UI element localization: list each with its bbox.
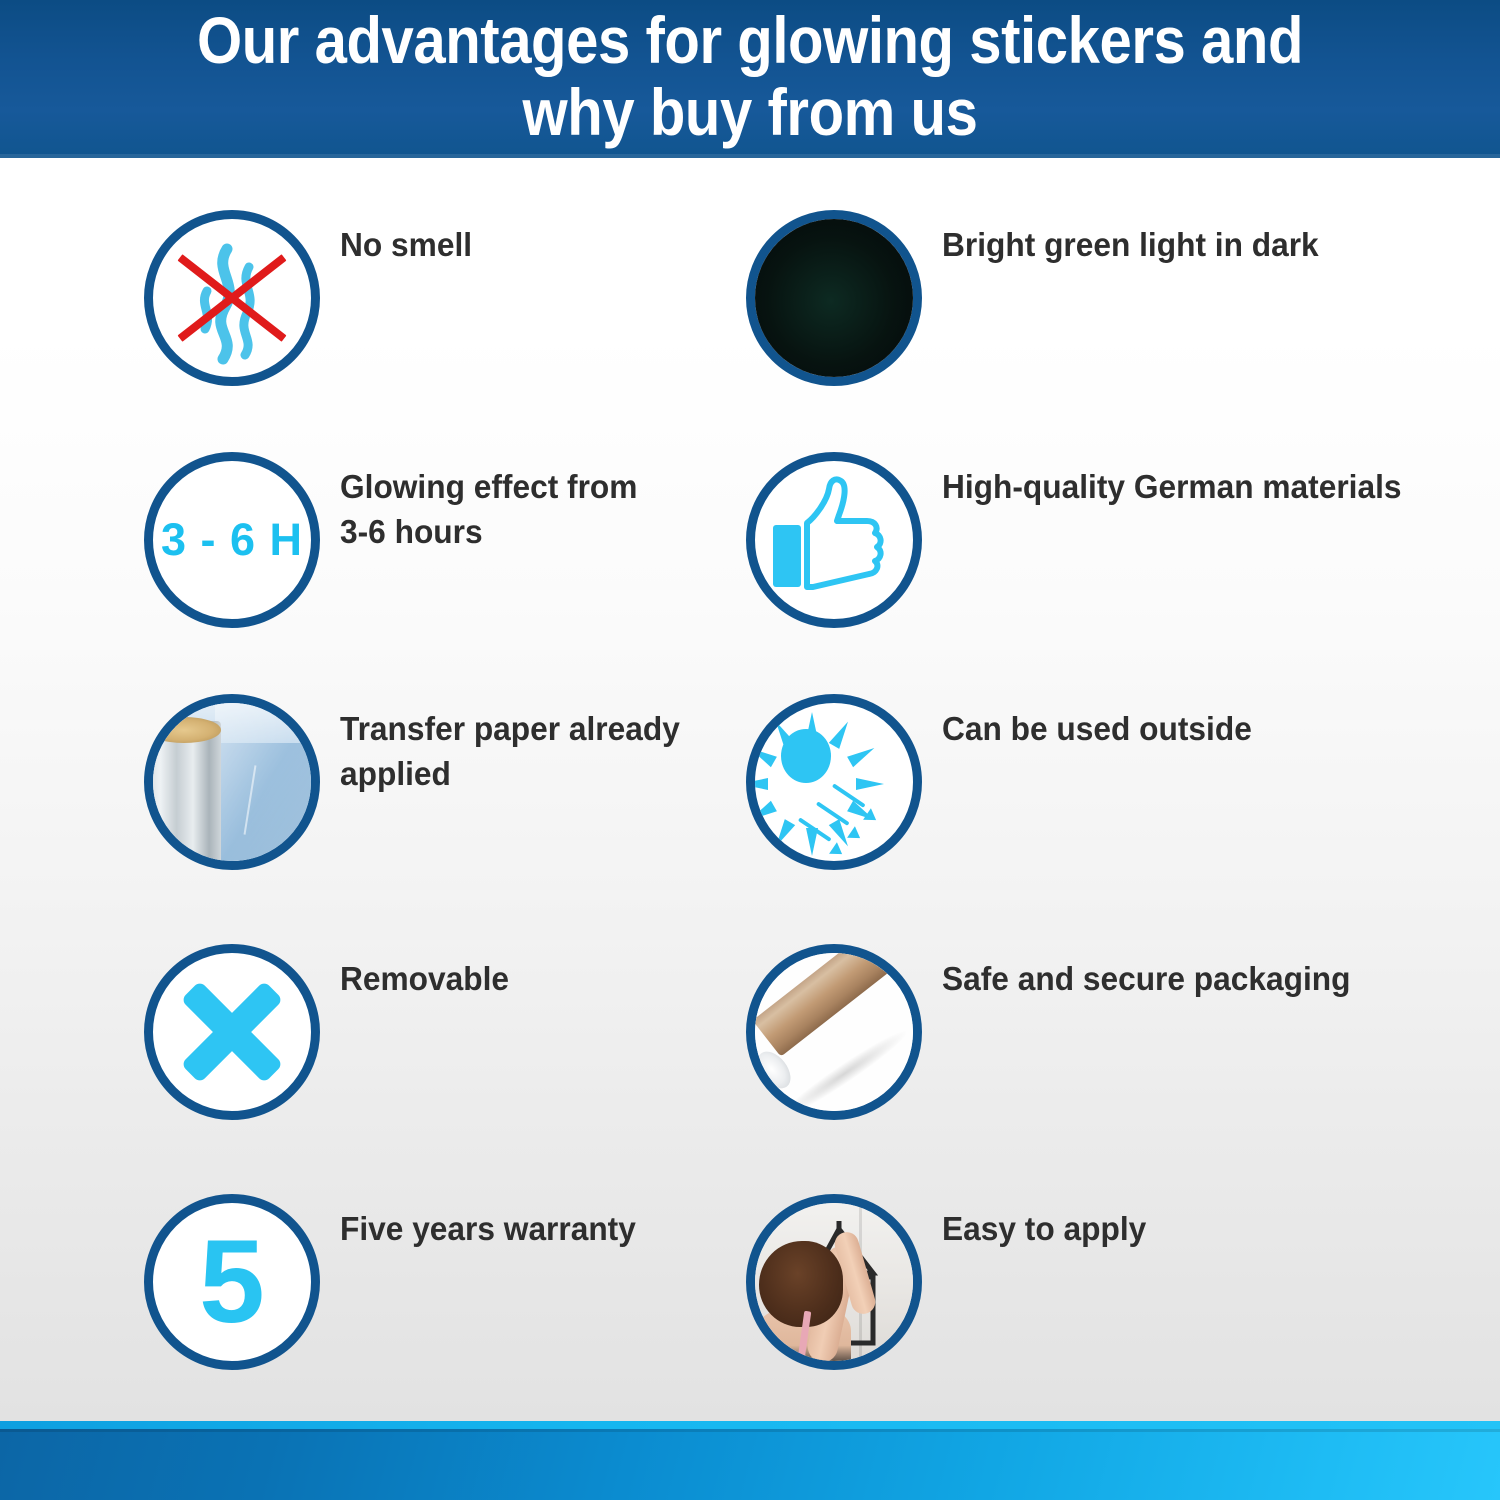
sun-ray [747, 743, 777, 767]
warranty-number-icon: 5 [144, 1194, 320, 1370]
sun-rays-icon [746, 694, 922, 870]
sun-ray [746, 778, 768, 790]
feature-removable: Removable [140, 944, 840, 1186]
feature-label: Can be used outside [942, 706, 1412, 751]
sun-ray [771, 819, 795, 849]
transparent-film-sheet [215, 703, 320, 870]
feature-label: Bright green light in dark [942, 222, 1412, 267]
thumbs-up-icon [746, 452, 922, 628]
tube-photo-background [755, 953, 913, 1111]
footer-bar [0, 1429, 1500, 1500]
page-title: Our advantages for glowing stickers and … [90, 4, 1410, 148]
sun-ray [747, 801, 777, 825]
feature-safe-packaging: Safe and secure packaging [742, 944, 1442, 1186]
feature-label: Removable [340, 956, 810, 1001]
feature-label: No smell [340, 222, 810, 267]
header-banner: Our advantages for glowing stickers and … [0, 0, 1500, 158]
feature-label: Safe and secure packaging [942, 956, 1412, 1001]
feature-easy-to-apply: Easy to apply [742, 1194, 1442, 1436]
feature-glowing-duration: 3 - 6 H Glowing effect from 3-6 hours [140, 452, 840, 694]
woman-hair [759, 1241, 843, 1327]
feature-warranty: 5 Five years warranty [140, 1194, 840, 1436]
sun-disc [781, 729, 831, 783]
feature-label: Glowing effect from 3-6 hours [340, 464, 810, 554]
warranty-number-label: 5 [153, 1203, 311, 1361]
feature-bright-green-light: Bright green light in dark [742, 210, 1442, 452]
infographic-page: Our advantages for glowing stickers and … [0, 0, 1500, 1500]
film-photo-background [153, 703, 311, 861]
features-grid: No smell [0, 158, 1500, 1421]
transfer-film-roll-icon [144, 694, 320, 870]
sun-ray [829, 719, 853, 749]
feature-label: Transfer paper already applied [340, 706, 810, 796]
no-smell-icon [144, 210, 320, 386]
thumbs-up-shape [755, 461, 913, 619]
feature-no-smell: No smell [140, 210, 840, 452]
sun-ray [856, 778, 884, 790]
tube-end-cap [751, 1045, 797, 1094]
woman-applying-sticker-icon [746, 1194, 922, 1370]
footer-accent-stripe [0, 1421, 1500, 1429]
feature-label: Five years warranty [340, 1206, 810, 1251]
film-roll-cardboard-core [147, 717, 221, 743]
mailing-tube-icon [746, 944, 922, 1120]
dark-background [755, 219, 913, 377]
hours-badge-icon: 3 - 6 H [144, 452, 320, 628]
feature-label: High-quality German materials [942, 464, 1412, 509]
feature-label: Easy to apply [942, 1206, 1412, 1251]
film-roll-body [147, 721, 221, 870]
glowing-handprint-icon [746, 210, 922, 386]
apply-photo-background [755, 1203, 913, 1361]
feature-transfer-paper: Transfer paper already applied [140, 694, 840, 936]
hours-badge-label: 3 - 6 H [153, 461, 311, 619]
feature-german-materials: High-quality German materials [742, 452, 1442, 694]
cross-mark-icon [144, 944, 320, 1120]
sun-ray [847, 743, 877, 767]
feature-outside-use: Can be used outside [742, 694, 1442, 936]
